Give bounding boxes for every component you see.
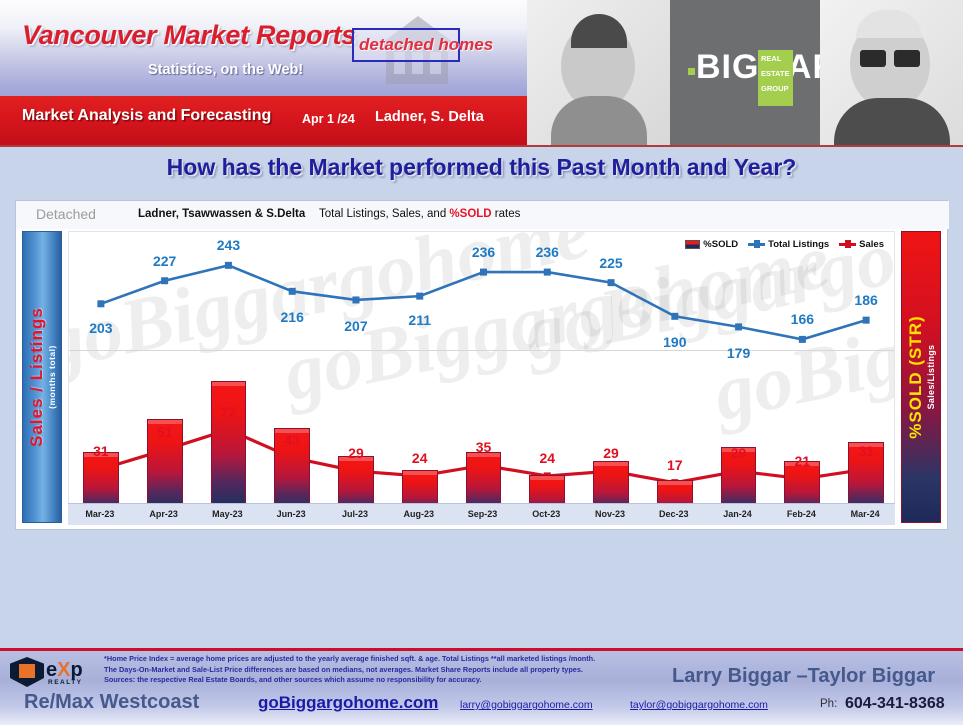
listings-value-label: 179	[727, 345, 750, 361]
page-footer: eXp REALTY *Home Price Index = average h…	[0, 651, 963, 725]
listings-value-label: 227	[153, 253, 176, 269]
chart-desc-suffix: rates	[492, 208, 521, 220]
logo-tag-group: GROUP	[761, 84, 789, 93]
exp-logo-sub: REALTY	[48, 679, 83, 686]
x-axis-label: Jul-23	[342, 509, 368, 519]
email-link-taylor[interactable]: taylor@gobiggargohome.com	[630, 699, 768, 711]
badge-box: detached homes	[352, 28, 460, 62]
pct-sold-bar: 30%	[211, 381, 247, 522]
disclaimer-line-1: *Home Price Index = average home prices …	[104, 654, 664, 665]
y-axis-left-title: Sales / Listings	[27, 307, 47, 447]
sales-value-label: 17	[667, 457, 683, 473]
header-subtitle: Statistics, on the Web!	[148, 62, 303, 78]
x-axis-label: Aug-23	[403, 509, 434, 519]
sales-value-label: 72	[221, 404, 237, 420]
sales-value-label: 21	[795, 453, 811, 469]
bar-column: 30%	[211, 381, 247, 522]
header-red-bar: Market Analysis and Forecasting Apr 1 /2…	[0, 96, 527, 145]
listings-value-label: 207	[344, 318, 367, 334]
phone-label: Ph:	[820, 698, 837, 710]
report-area: Ladner, S. Delta	[375, 109, 484, 125]
page-title: Vancouver Market Reports	[22, 20, 356, 51]
y-axis-left: Sales / Listings (months total)	[22, 231, 62, 523]
x-axis-label: Oct-23	[532, 509, 560, 519]
y-axis-right-labels: %SOLD (STR) Sales/Listings	[906, 315, 936, 438]
property-type-label: Detached	[36, 206, 96, 222]
sales-value-label: 31	[858, 443, 874, 459]
sales-value-label: 43	[284, 432, 300, 448]
x-axis-label: Jan-24	[723, 509, 752, 519]
chart-desc-prefix: Total Listings, Sales, and	[319, 208, 449, 220]
x-axis-label: Mar-23	[85, 509, 114, 519]
x-axis-label: Jun-23	[277, 509, 306, 519]
chart-desc: Total Listings, Sales, and %SOLD rates	[319, 208, 520, 220]
x-axis: Mar-23Apr-23May-23Jun-23Jul-23Aug-23Sep-…	[68, 503, 895, 525]
phone-number: 604-341-8368	[845, 695, 945, 713]
chart-header: Detached Ladner, Tsawwassen & S.Delta To…	[16, 201, 949, 229]
x-axis-label: Dec-23	[659, 509, 689, 519]
market-analysis-label: Market Analysis and Forecasting	[22, 107, 271, 125]
x-axis-label: Sep-23	[468, 509, 498, 519]
question-text: How has the Market performed this Past M…	[0, 154, 963, 181]
sales-value-label: 29	[603, 445, 619, 461]
brokerage-name: Re/Max Westcoast	[24, 691, 199, 714]
y-axis-right-title: %SOLD (STR)	[906, 315, 926, 438]
logo-green-block: REAL ESTATE GROUP	[758, 50, 793, 106]
listings-value-label: 203	[89, 320, 112, 336]
listings-value-label: 236	[472, 244, 495, 260]
email-link-larry[interactable]: larry@gobiggargohome.com	[460, 699, 593, 711]
y-axis-left-labels: Sales / Listings (months total)	[27, 307, 57, 447]
x-axis-label: Mar-24	[851, 509, 880, 519]
disclaimer-line-2: The Days-On-Market and Sale-List Price d…	[104, 665, 664, 676]
y-axis-right-subtitle: Sales/Listings	[926, 315, 936, 438]
chart-bars: 15%22%30%20%14%11%15%10%13%9%16%13%17%	[69, 231, 894, 522]
plot-area: goBiggargohomegoBiggargohomegoBiggargoho…	[68, 231, 895, 523]
disclaimer: *Home Price Index = average home prices …	[104, 654, 664, 686]
agent-names: Larry Biggar –Taylor Biggar	[672, 665, 935, 688]
listings-value-label: 236	[536, 244, 559, 260]
x-axis-label: Nov-23	[595, 509, 625, 519]
chart-panel: Detached Ladner, Tsawwassen & S.Delta To…	[15, 200, 948, 530]
exp-realty-logo: eXp REALTY	[10, 655, 98, 689]
listings-value-label: 186	[854, 292, 877, 308]
logo-tag-real: REAL	[761, 54, 781, 63]
x-axis-label: Feb-24	[787, 509, 816, 519]
sales-value-label: 35	[476, 439, 492, 455]
disclaimer-line-3: Sources: the respective Real Estate Boar…	[104, 675, 664, 686]
header-left-panel: Vancouver Market Reports Statistics, on …	[0, 0, 527, 96]
chart-desc-accent: %SOLD	[449, 208, 491, 220]
sales-value-label: 51	[157, 424, 173, 440]
listings-value-label: 225	[599, 255, 622, 271]
sales-value-label: 29	[731, 445, 747, 461]
report-date: Apr 1 /24	[302, 112, 355, 126]
logo-tag-estate: ESTATE	[761, 69, 789, 78]
detached-homes-badge: detached homes	[352, 14, 474, 86]
sales-value-label: 31	[93, 443, 109, 459]
listings-value-label: 243	[217, 237, 240, 253]
badge-label: detached homes	[359, 35, 493, 55]
listings-value-label: 190	[663, 334, 686, 350]
x-axis-label: Apr-23	[149, 509, 178, 519]
y-axis-right: %SOLD (STR) Sales/Listings	[901, 231, 941, 523]
y-axis-left-subtitle: (months total)	[47, 307, 57, 447]
agent-photo-larry	[820, 0, 963, 145]
agent-photo-taylor	[527, 0, 670, 145]
page-header: Vancouver Market Reports Statistics, on …	[0, 0, 963, 145]
biggar-logo: BIGGAR REAL ESTATE GROUP	[670, 0, 820, 145]
listings-value-label: 216	[281, 309, 304, 325]
listings-value-label: 211	[408, 312, 431, 328]
logo-dot-icon	[688, 68, 695, 75]
chart-area-label: Ladner, Tsawwassen & S.Delta	[138, 208, 305, 220]
x-axis-label: May-23	[212, 509, 243, 519]
listings-value-label: 166	[791, 311, 814, 327]
exp-house-icon	[19, 664, 35, 678]
website-link[interactable]: goBiggargohome.com	[258, 693, 438, 713]
sales-value-label: 24	[412, 450, 428, 466]
sales-value-label: 24	[539, 450, 555, 466]
question-banner: How has the Market performed this Past M…	[0, 145, 963, 197]
sales-value-label: 29	[348, 445, 364, 461]
